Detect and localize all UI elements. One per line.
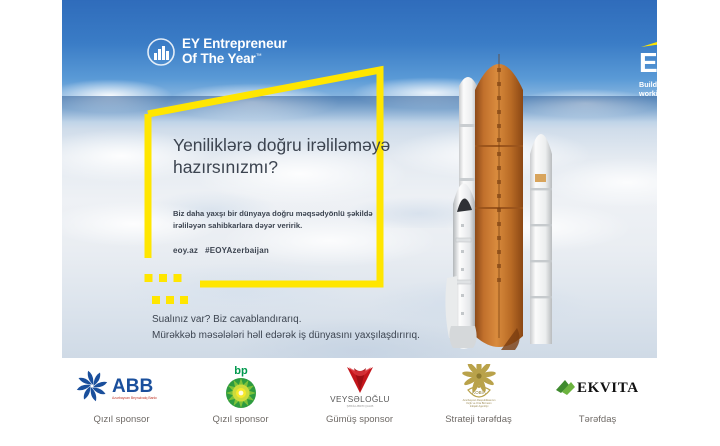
hero-banner: EY Entrepreneur Of The Year™ EY Building… bbox=[62, 0, 657, 358]
abb-logo-icon: ABB Azərbaycan Beynəlxalq Bankı bbox=[75, 366, 169, 408]
page-root: EY Entrepreneur Of The Year™ EY Building… bbox=[0, 0, 720, 446]
bp-helios-logo-icon: bp bbox=[214, 366, 268, 408]
ekvita-logo-icon: EKVITA bbox=[552, 366, 644, 408]
svg-text:Azərbaycan Beynəlxalq Bankı: Azərbaycan Beynəlxalq Bankı bbox=[112, 396, 157, 400]
ey-logo-letters: EY bbox=[639, 49, 657, 77]
sponsor-label: Qızıl sponsor bbox=[94, 414, 150, 425]
sponsor-label: Gümüş sponsor bbox=[326, 414, 393, 425]
ey-tagline-line1: Building a better bbox=[639, 80, 657, 89]
ey-logo-tagline: Building a better working world bbox=[639, 80, 657, 98]
ey-beam-icon bbox=[639, 28, 657, 48]
sponsor-label: Tərəfdaş bbox=[579, 414, 617, 425]
body-text: Biz daha yaxşı bir dünyaya doğru məqsədy… bbox=[173, 208, 388, 233]
hashtag-link[interactable]: #EOYAzerbaijan bbox=[205, 246, 269, 255]
dot-1 bbox=[152, 296, 160, 304]
eoy-logo-line1: EY Entrepreneur bbox=[182, 37, 287, 52]
dot-3 bbox=[180, 296, 188, 304]
ey-tagline-line2: working world bbox=[639, 89, 657, 98]
svg-text:KOBİA: KOBİA bbox=[472, 390, 485, 395]
svg-text:VEYSƏLOĞLU: VEYSƏLOĞLU bbox=[330, 394, 390, 404]
kobia-flower-logo-icon: KOBİA Azərbaycan Respublikasının Kiçik v… bbox=[442, 366, 516, 408]
space-shuttle-image bbox=[417, 28, 602, 358]
sponsor-ekvita[interactable]: EKVITA Tərəfdaş bbox=[538, 366, 657, 425]
dot-2 bbox=[166, 296, 174, 304]
sponsor-label: Qızıl sponsor bbox=[213, 414, 269, 425]
bottom-copy: Sualınız var? Biz cavablandırarıq. Mürək… bbox=[152, 312, 492, 343]
sponsor-veyseloglu[interactable]: VEYSƏLOĞLU ŞƏKİLLƏRƏ QALIB Gümüş sponsor bbox=[300, 366, 419, 425]
svg-text:EKVITA: EKVITA bbox=[577, 380, 639, 396]
trademark-symbol: ™ bbox=[256, 53, 262, 59]
svg-text:ABB: ABB bbox=[112, 376, 153, 397]
sponsor-bp[interactable]: bp bbox=[181, 366, 300, 425]
bottom-copy-line2: Mürəkkəb məsələləri həll edərək iş dünya… bbox=[152, 328, 492, 344]
link-line: eoy.az#EOYAzerbaijan bbox=[173, 246, 393, 255]
yellow-dot-accent-row bbox=[152, 296, 188, 304]
headline: Yeniliklərə doğru irəliləməyə hazırsınız… bbox=[173, 134, 413, 178]
sponsor-label: Strateji tərəfdaş bbox=[445, 414, 512, 425]
sponsor-abb[interactable]: ABB Azərbaycan Beynəlxalq Bankı Qızıl sp… bbox=[62, 366, 181, 425]
ey-logo: EY Building a better working world bbox=[639, 28, 657, 98]
svg-text:ŞƏKİLLƏRƏ QALIB: ŞƏKİLLƏRƏ QALIB bbox=[346, 403, 373, 408]
svg-text:bp: bp bbox=[234, 365, 248, 377]
sponsor-row: ABB Azərbaycan Beynəlxalq Bankı Qızıl sp… bbox=[62, 366, 657, 440]
website-link[interactable]: eoy.az bbox=[173, 246, 198, 255]
bottom-copy-line1: Sualınız var? Biz cavablandırarıq. bbox=[152, 312, 492, 328]
sponsor-kobia[interactable]: KOBİA Azərbaycan Respublikasının Kiçik v… bbox=[419, 366, 538, 425]
veyseloglu-logo-icon: VEYSƏLOĞLU ŞƏKİLLƏRƏ QALIB bbox=[323, 366, 397, 408]
